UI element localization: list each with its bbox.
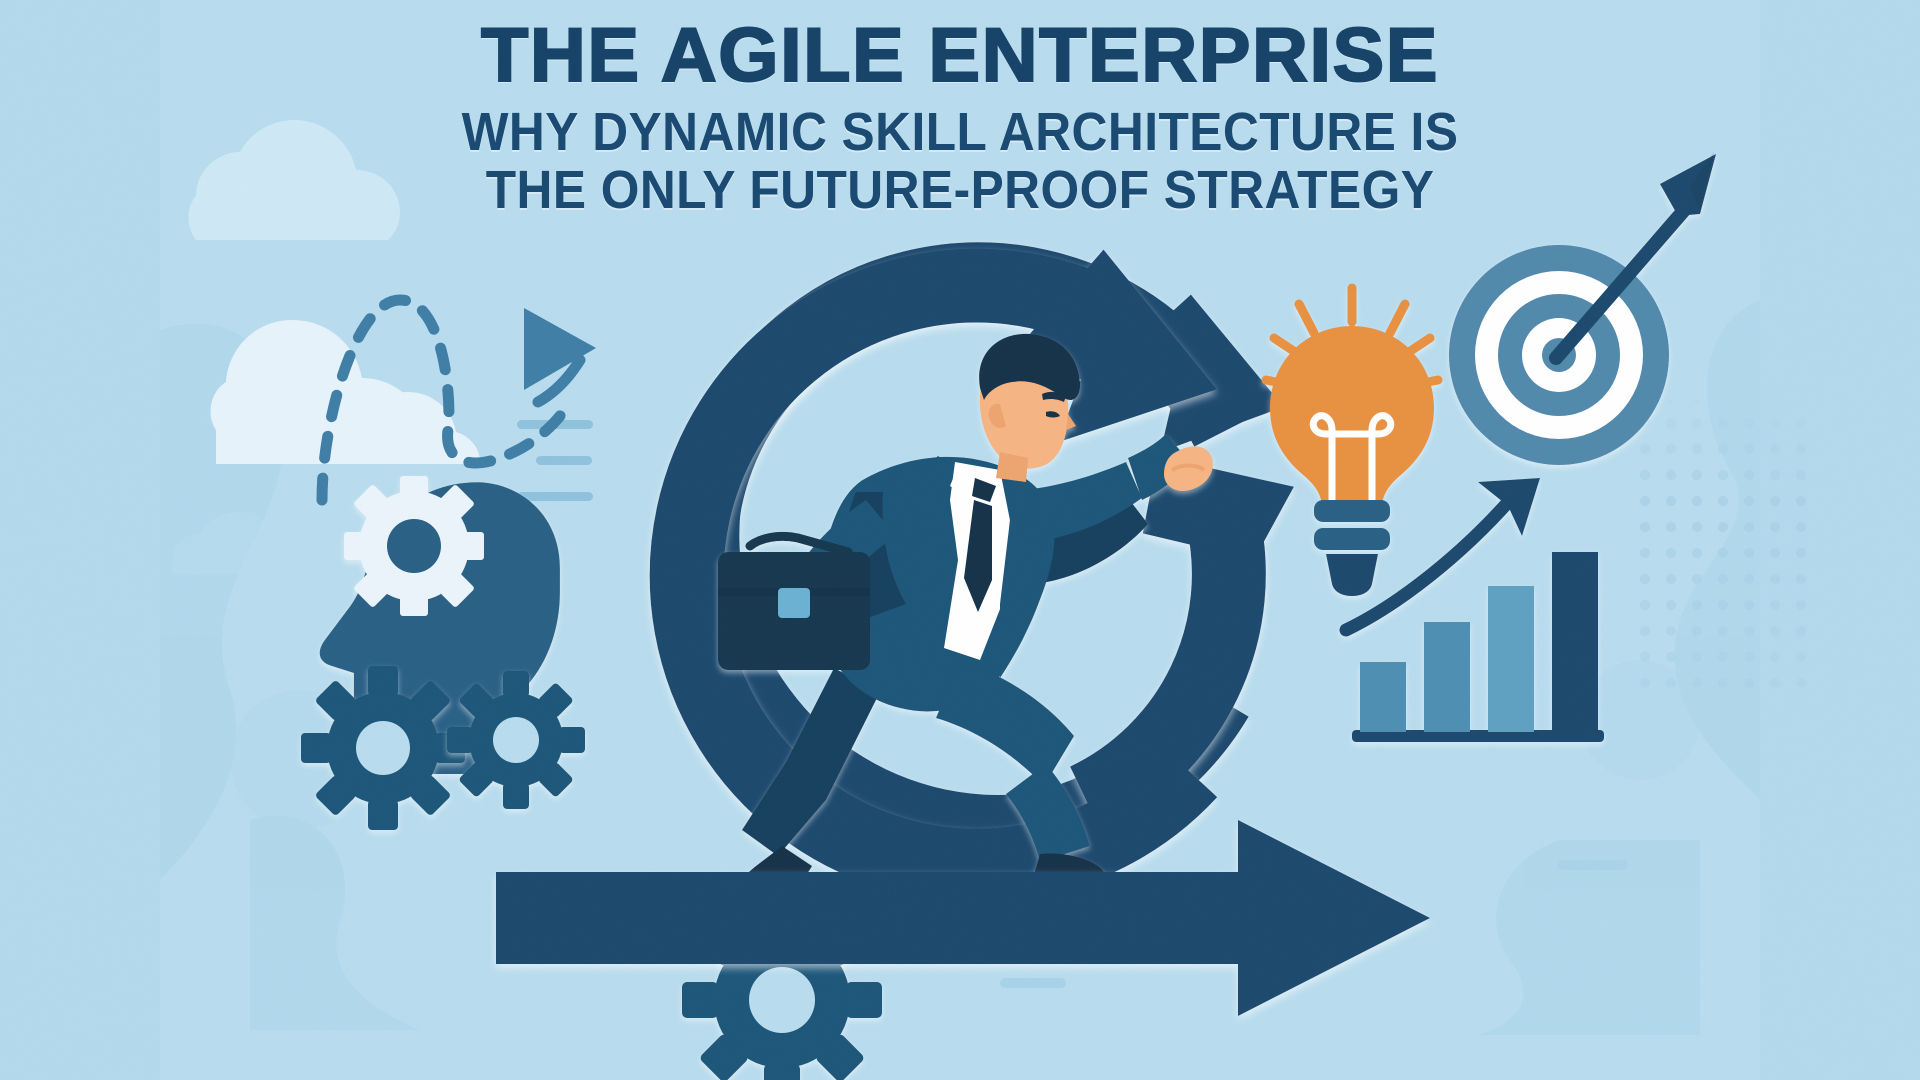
subtitle-line-2: THE ONLY FUTURE-PROOF STRATEGY <box>77 162 1843 218</box>
page-title: THE AGILE ENTERPRISE <box>0 18 1920 94</box>
gear-left <box>301 666 465 830</box>
subtitle-line-1: WHY DYNAMIC SKILL ARCHITECTURE IS <box>77 104 1843 160</box>
title-block: THE AGILE ENTERPRISE WHY DYNAMIC SKILL A… <box>0 18 1920 218</box>
bar-2 <box>1424 622 1470 732</box>
gear-right <box>447 671 585 809</box>
dot-grid <box>1630 400 1820 700</box>
bar-4 <box>1552 552 1598 732</box>
infographic-banner: THE AGILE ENTERPRISE WHY DYNAMIC SKILL A… <box>0 0 1920 1080</box>
bar-3 <box>1488 586 1534 732</box>
bar-1 <box>1360 662 1406 732</box>
briefcase <box>718 536 870 670</box>
